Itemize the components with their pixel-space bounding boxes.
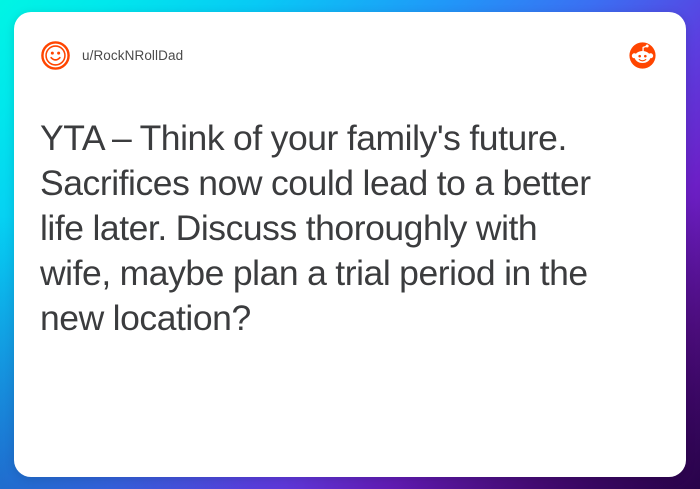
gradient-background: u/RockNRollDad <box>0 0 700 489</box>
reddit-post-card: u/RockNRollDad <box>14 12 686 477</box>
post-body: YTA – Think of your family's future. Sac… <box>40 72 660 457</box>
username-label: u/RockNRollDad <box>82 48 183 63</box>
post-text: YTA – Think of your family's future. Sac… <box>40 116 612 341</box>
reddit-snoo-icon <box>627 40 658 71</box>
avatar[interactable] <box>40 40 71 71</box>
post-header: u/RockNRollDad <box>40 38 660 72</box>
reddit-logo[interactable] <box>627 40 660 71</box>
smiley-face-icon <box>40 40 71 71</box>
